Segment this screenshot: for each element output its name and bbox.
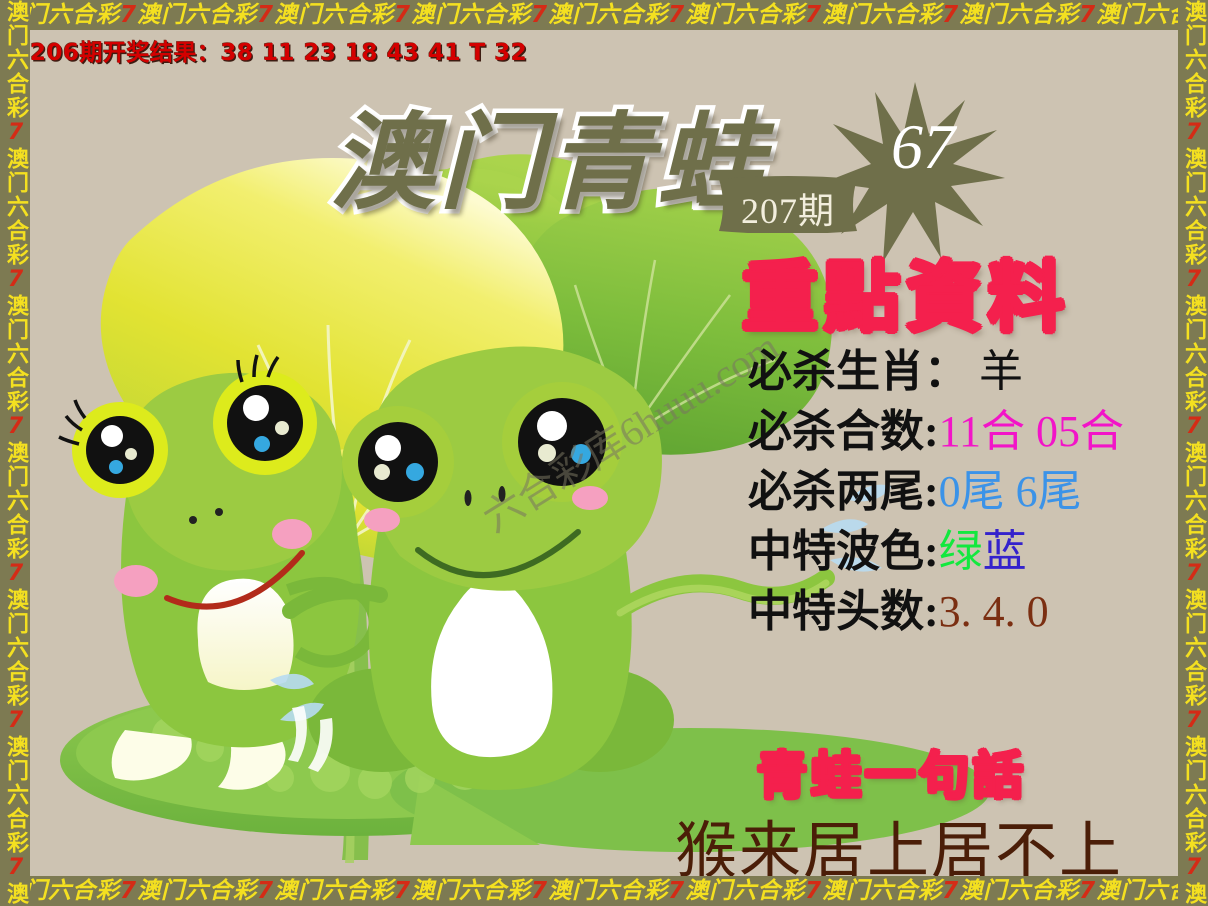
poster-canvas: 六合彩库6huuu.com 206期开奖结果：38 11 23 18 43 41…	[30, 30, 1178, 876]
info-row-tails: 必杀两尾:0尾 6尾	[748, 462, 1178, 522]
info-row-zodiac: 必杀生肖： 羊	[748, 342, 1178, 402]
info-row-tails-value: 0尾 6尾	[939, 467, 1082, 516]
info-row-tails-label: 必杀两尾:	[748, 467, 939, 516]
frame-right-border: 澳门六合彩7澳门六合彩7澳门六合彩7澳门六合彩7澳门六合彩7澳门六合彩7澳门六合…	[1178, 0, 1208, 906]
info-row-wave-color-blue: 蓝	[983, 527, 1027, 576]
frame-left-text: 澳门六合彩7澳门六合彩7澳门六合彩7澳门六合彩7澳门六合彩7澳门六合彩7澳门六合…	[0, 0, 30, 906]
info-row-head-numbers-label: 中特头数:	[748, 587, 939, 636]
phrase-heading: 青蛙一句話	[757, 736, 1027, 808]
info-row-wave-color-label: 中特波色:	[748, 527, 939, 576]
starburst-number: 67	[868, 110, 978, 184]
phrase-text: 猴来居上居不上	[675, 800, 1123, 876]
issue-badge-label: 207期	[713, 182, 863, 234]
info-row-wave-color: 中特波色:绿蓝	[748, 522, 1178, 582]
info-row-sum-value: 11合 05合	[939, 407, 1124, 456]
frame-bottom-text: 澳门六合彩7澳门六合彩7澳门六合彩7澳门六合彩7澳门六合彩7澳门六合彩7澳门六合…	[0, 878, 1208, 904]
info-row-zodiac-label: 必杀生肖：	[748, 347, 968, 396]
info-row-wave-color-green: 绿	[939, 527, 983, 576]
info-row-sum-label: 必杀合数:	[748, 407, 939, 456]
poster-root: 澳门六合彩7澳门六合彩7澳门六合彩7澳门六合彩7澳门六合彩7澳门六合彩7澳门六合…	[0, 0, 1208, 906]
page-title: 澳门青蛙	[330, 78, 766, 230]
info-panel-rows: 必杀生肖： 羊 必杀合数:11合 05合 必杀两尾:0尾 6尾 中特波色:绿蓝 …	[748, 342, 1178, 642]
info-row-head-numbers-value: 3. 4. 0	[939, 587, 1049, 636]
frame-top-border: 澳门六合彩7澳门六合彩7澳门六合彩7澳门六合彩7澳门六合彩7澳门六合彩7澳门六合…	[0, 0, 1208, 30]
info-row-head-numbers: 中特头数:3. 4. 0	[748, 582, 1178, 642]
frame-bottom-border: 澳门六合彩7澳门六合彩7澳门六合彩7澳门六合彩7澳门六合彩7澳门六合彩7澳门六合…	[0, 876, 1208, 906]
frame-left-border: 澳门六合彩7澳门六合彩7澳门六合彩7澳门六合彩7澳门六合彩7澳门六合彩7澳门六合…	[0, 0, 30, 906]
frame-top-text: 澳门六合彩7澳门六合彩7澳门六合彩7澳门六合彩7澳门六合彩7澳门六合彩7澳门六合…	[0, 2, 1208, 28]
frame-right-text: 澳门六合彩7澳门六合彩7澳门六合彩7澳门六合彩7澳门六合彩7澳门六合彩7澳门六合…	[1178, 0, 1208, 906]
info-row-zodiac-value: 羊	[968, 347, 1023, 396]
lottery-result-line: 206期开奖结果：38 11 23 18 43 41 T 32	[30, 33, 527, 67]
info-panel-heading: 重點資料	[742, 236, 1070, 346]
info-row-sum: 必杀合数:11合 05合	[748, 402, 1178, 462]
